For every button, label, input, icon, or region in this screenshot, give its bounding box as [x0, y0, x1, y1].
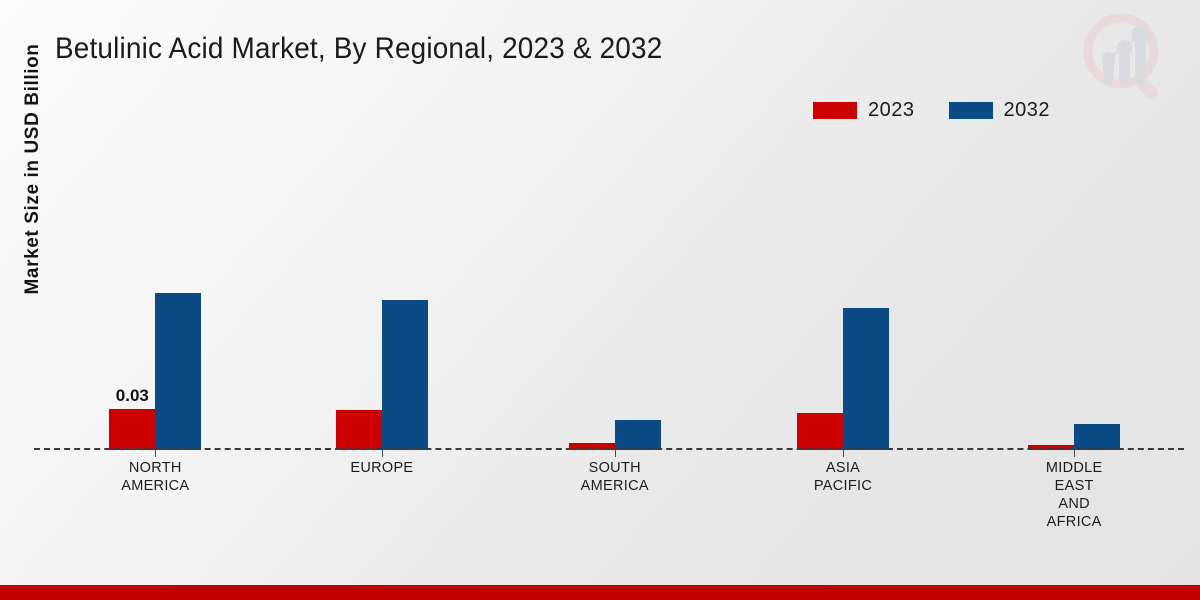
x-axis-category-line: AMERICA — [121, 477, 189, 495]
x-axis-category-label: EUROPE — [350, 459, 413, 477]
bar-2032[interactable] — [155, 293, 201, 450]
legend-label-2032: 2032 — [1004, 99, 1051, 122]
bar-2023[interactable] — [797, 413, 843, 450]
x-axis-category-line: EAST — [1046, 477, 1103, 495]
chart-canvas: Betulinic Acid Market, By Regional, 2023… — [0, 0, 1200, 600]
x-axis-category-label: MIDDLEEASTANDAFRICA — [1046, 459, 1103, 531]
legend-label-2023: 2023 — [868, 99, 915, 122]
x-axis-category-line: SOUTH — [581, 459, 649, 477]
x-axis-category-label: ASIAPACIFIC — [814, 459, 872, 495]
legend-swatch-2023-icon — [813, 102, 857, 119]
bar-2032[interactable] — [615, 420, 661, 450]
legend-swatch-2032-icon — [949, 102, 993, 119]
x-axis-category-line: AFRICA — [1046, 513, 1103, 531]
bar-value-label: 0.03 — [116, 386, 149, 406]
bar-2032[interactable] — [1074, 424, 1120, 450]
bar-2023[interactable]: 0.03 — [109, 409, 155, 450]
x-axis-category-line: AMERICA — [581, 477, 649, 495]
bottom-accent-band — [0, 585, 1200, 600]
legend-item-2032[interactable]: 2032 — [949, 99, 1051, 122]
x-axis-category-line: ASIA — [814, 459, 872, 477]
x-axis-baseline — [34, 448, 1184, 450]
chart-legend: 2023 2032 — [813, 99, 1050, 122]
bar-2023[interactable] — [336, 410, 382, 450]
magnifier-bar-chart-logo-icon — [1074, 6, 1178, 110]
chart-title: Betulinic Acid Market, By Regional, 2023… — [55, 32, 662, 66]
bar-2032[interactable] — [382, 300, 428, 450]
x-axis-category-line: EUROPE — [350, 459, 413, 477]
bars-layer: 0.03NORTHAMERICAEUROPESOUTHAMERICAASIAPA… — [34, 150, 1184, 450]
x-axis-category-line: NORTH — [121, 459, 189, 477]
x-axis-tick — [382, 450, 383, 457]
x-axis-tick — [1074, 450, 1075, 457]
x-axis-category-line: MIDDLE — [1046, 459, 1103, 477]
bar-2032[interactable] — [843, 308, 889, 450]
legend-item-2023[interactable]: 2023 — [813, 99, 915, 122]
x-axis-tick — [843, 450, 844, 457]
x-axis-tick — [155, 450, 156, 457]
x-axis-category-label: SOUTHAMERICA — [581, 459, 649, 495]
plot-area: 0.03NORTHAMERICAEUROPESOUTHAMERICAASIAPA… — [34, 150, 1184, 450]
x-axis-category-label: NORTHAMERICA — [121, 459, 189, 495]
x-axis-category-line: PACIFIC — [814, 477, 872, 495]
x-axis-tick — [615, 450, 616, 457]
x-axis-category-line: AND — [1046, 495, 1103, 513]
